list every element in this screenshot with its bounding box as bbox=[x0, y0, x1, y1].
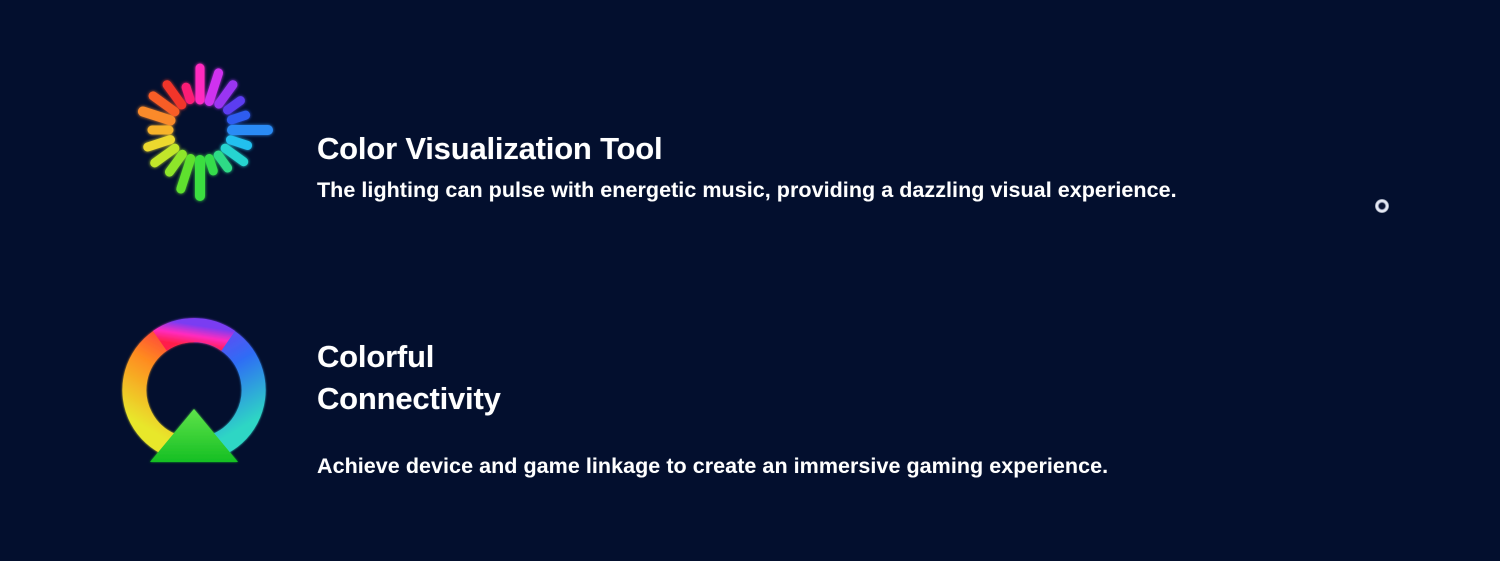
feature-banner: Color Visualization Tool The lighting ca… bbox=[0, 0, 1500, 561]
cursor-dot bbox=[1375, 199, 1389, 213]
feature-item-color-visualization-tool: Color Visualization Tool The lighting ca… bbox=[0, 40, 1500, 240]
rainbow-ring-triangle-icon bbox=[120, 310, 280, 480]
radial-color-burst-icon bbox=[120, 40, 280, 210]
feature-item-colorful-connectivity: Colorful Connectivity Achieve device and… bbox=[0, 310, 1500, 510]
feature-description: The lighting can pulse with energetic mu… bbox=[317, 176, 1177, 204]
feature-description: Achieve device and game linkage to creat… bbox=[317, 452, 1108, 480]
feature-title: Color Visualization Tool bbox=[317, 128, 662, 170]
feature-title: Colorful Connectivity bbox=[317, 336, 501, 420]
